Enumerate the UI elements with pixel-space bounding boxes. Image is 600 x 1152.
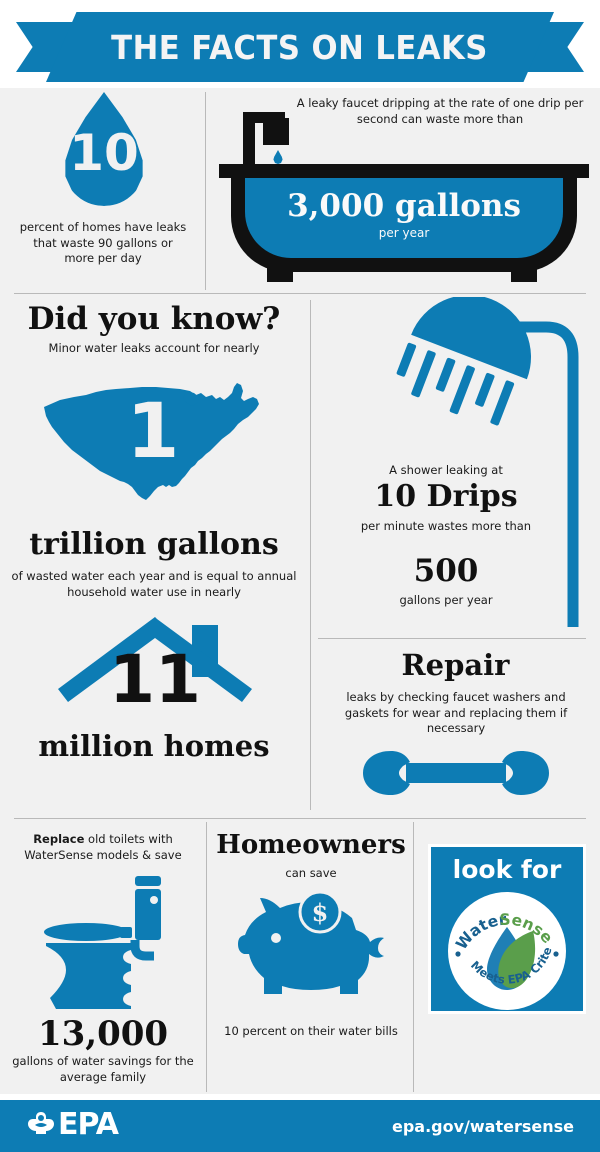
footer: EPA epa.gov/watersense [0,1100,600,1152]
piggy-caption: 10 percent on their water bills [222,1024,400,1040]
shower-line-2: per minute wastes more than [331,519,561,535]
bathtub-subtext: per year [245,226,563,240]
faucet-drip-icon [273,150,283,164]
infographic-page: THE FACTS ON LEAKS 10 percent of homes h… [0,0,600,1152]
million-homes-label: million homes [0,729,308,763]
faucet-head-icon [263,118,289,145]
trillion-footnote: of wasted water each year and is equal t… [10,569,298,600]
watersense-card: look for Water Sense [428,844,586,1014]
epa-wordmark: EPA [58,1110,118,1140]
map-number: 1 [38,393,268,469]
bathtub-caption: A leaky faucet dripping at the rate of o… [290,96,590,127]
repair-title: Repair [311,648,600,682]
watersense-seal-icon: Water Sense Meets EPA Criteria [447,891,567,1011]
svg-text:$: $ [312,898,329,927]
divider-vertical-row1 [205,92,206,290]
piggy-title: Homeowners [208,830,414,860]
toilet-caption: gallons of water savings for the average… [8,1054,198,1085]
did-you-know-heading: Did you know? [0,301,308,337]
section-toilet: Replace old toilets with WaterSense mode… [0,822,206,1094]
section-map-stat: Did you know? Minor water leaks account … [0,297,308,817]
section-bathtub-stat: A leaky faucet dripping at the rate of o… [205,88,600,293]
toilet-icon [38,870,168,1010]
header: THE FACTS ON LEAKS [0,0,600,88]
toilet-headline: Replace old toilets with WaterSense mode… [10,832,196,863]
piggy-bank-icon: $ [236,890,386,1010]
piggy-sub: can save [226,866,396,882]
divider-horizontal-row3 [14,818,586,819]
epa-seal-icon [26,1110,56,1140]
look-for-label: look for [431,855,583,884]
section-repair: Repair leaks by checking faucet washers … [311,642,600,817]
shower-line-1: A shower leaking at [331,463,561,479]
section-watersense-logo: look for Water Sense [415,822,600,1094]
repair-body: leaks by checking faucet washers and gas… [331,690,581,737]
bathtub-number: 3,000 gallons [245,188,563,224]
title-ribbon: THE FACTS ON LEAKS [0,12,600,82]
toilet-number: 13,000 [0,1014,206,1054]
shower-drips-number: 10 Drips [331,479,561,514]
bathtub-rim-icon [219,164,589,178]
section-shower-stat: A shower leaking at 10 Drips per minute … [311,297,600,637]
bathtub-foot-left-icon [267,268,293,282]
divider-horizontal-row1 [14,293,586,294]
trillion-gallons-label: trillion gallons [0,527,308,562]
shower-gallons-number: 500 [331,553,561,589]
shower-line-3: gallons per year [331,593,561,609]
page-title: THE FACTS ON LEAKS [112,28,489,67]
toilet-headline-bold: Replace [33,832,84,846]
house-number: 11 [30,647,280,713]
section-piggy: Homeowners can save $ 10 percent on thei… [208,822,414,1094]
divider-vertical-row3-a [206,822,207,1092]
bathtub-foot-right-icon [511,268,537,282]
drop-number: 10 [62,128,146,178]
epa-logo: EPA [26,1110,118,1140]
section-drop-stat: 10 percent of homes have leaks that wast… [0,88,200,293]
divider-vertical-row3-b [413,822,414,1092]
epa-url[interactable]: epa.gov/watersense [392,1117,574,1136]
drop-caption: percent of homes have leaks that waste 9… [18,220,188,267]
did-you-know-sub: Minor water leaks account for nearly [14,341,294,357]
divider-horizontal-shower-repair [318,638,586,639]
wrench-icon [361,747,551,799]
ribbon-band: THE FACTS ON LEAKS [46,12,554,82]
faucet-post-icon [243,112,255,164]
